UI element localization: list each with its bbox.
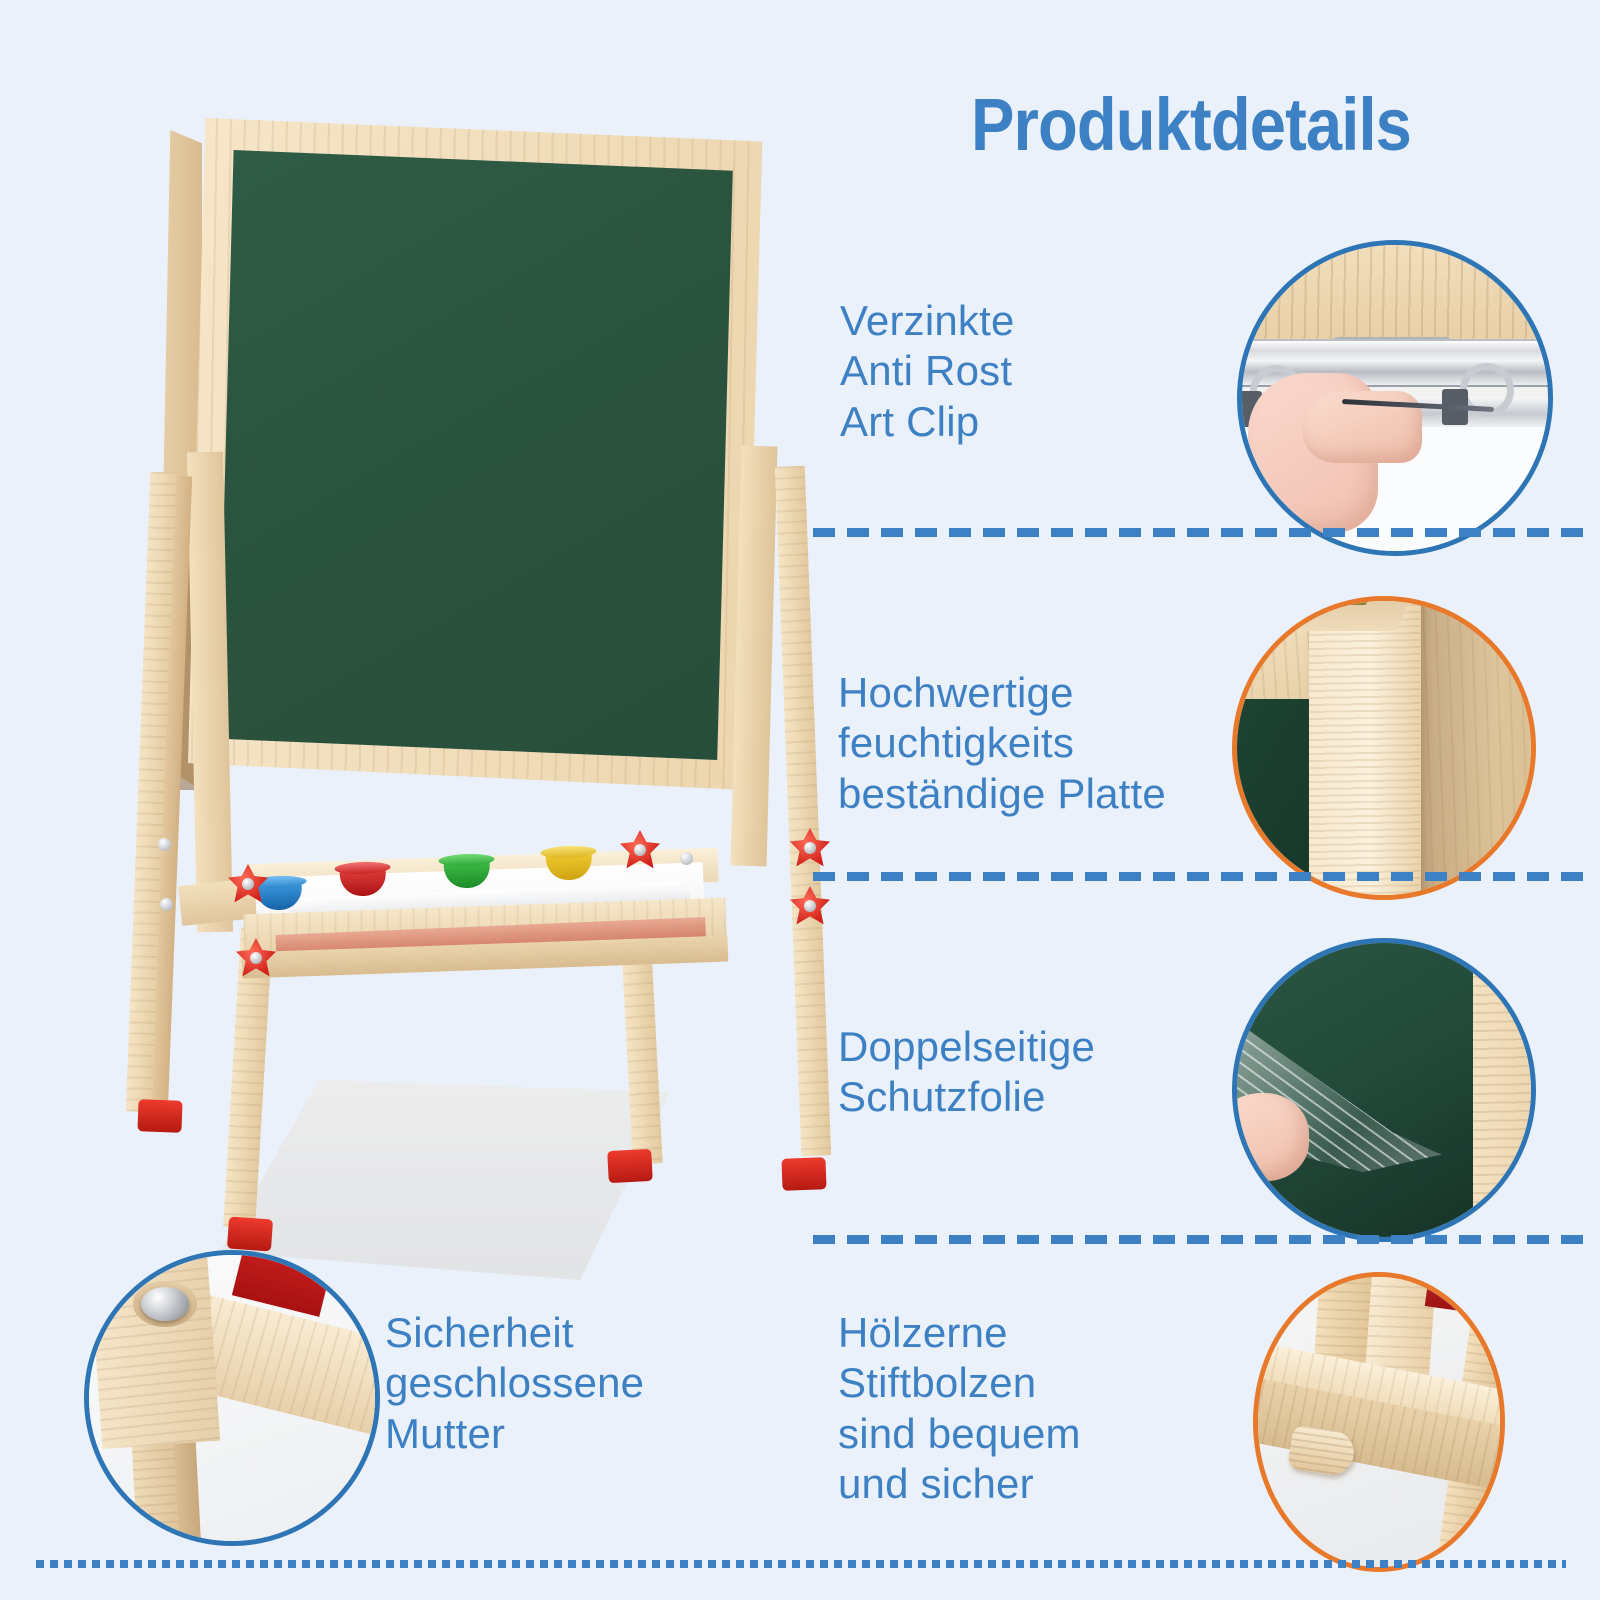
- rubber-foot-cap: [607, 1149, 653, 1183]
- floor-shadow: [220, 1080, 670, 1280]
- wooden-dowel-photo: [1253, 1272, 1505, 1572]
- section-divider: [813, 872, 1583, 881]
- protective-film-photo: [1232, 938, 1536, 1242]
- easel-leg-front-right: [775, 466, 831, 1157]
- rubber-foot-cap: [137, 1099, 182, 1133]
- feature-label-protective-film: Doppelseitige Schutzfolie: [838, 1022, 1258, 1123]
- feature-label-art-clip: Verzinkte Anti Rost Art Clip: [840, 296, 1260, 447]
- kids-easel-photo: [60, 100, 820, 1230]
- feature-label-moisture-board: Hochwertige feuchtigkeits beständige Pla…: [838, 668, 1268, 819]
- rubber-foot-cap: [227, 1217, 273, 1252]
- page-title: Produktdetails: [852, 88, 1530, 162]
- screw-icon: [160, 898, 173, 911]
- screw-icon: [158, 838, 171, 851]
- art-clip-photo: [1237, 240, 1553, 556]
- feature-label-wooden-dowel: Hölzerne Stiftbolzen sind bequem und sic…: [838, 1308, 1178, 1510]
- rubber-foot-cap: [781, 1157, 826, 1191]
- chalkboard-surface: [218, 150, 738, 760]
- feature-label-safety-nut: Sicherheit geschlossene Mutter: [385, 1308, 715, 1459]
- moisture-board-photo: [1232, 596, 1536, 900]
- screw-icon: [680, 852, 693, 865]
- safety-nut-photo: [84, 1250, 380, 1546]
- section-divider: [813, 1235, 1583, 1244]
- infographic-canvas: Produktdetails: [0, 0, 1600, 1600]
- section-divider: [813, 528, 1583, 537]
- bottom-divider: [36, 1560, 1566, 1569]
